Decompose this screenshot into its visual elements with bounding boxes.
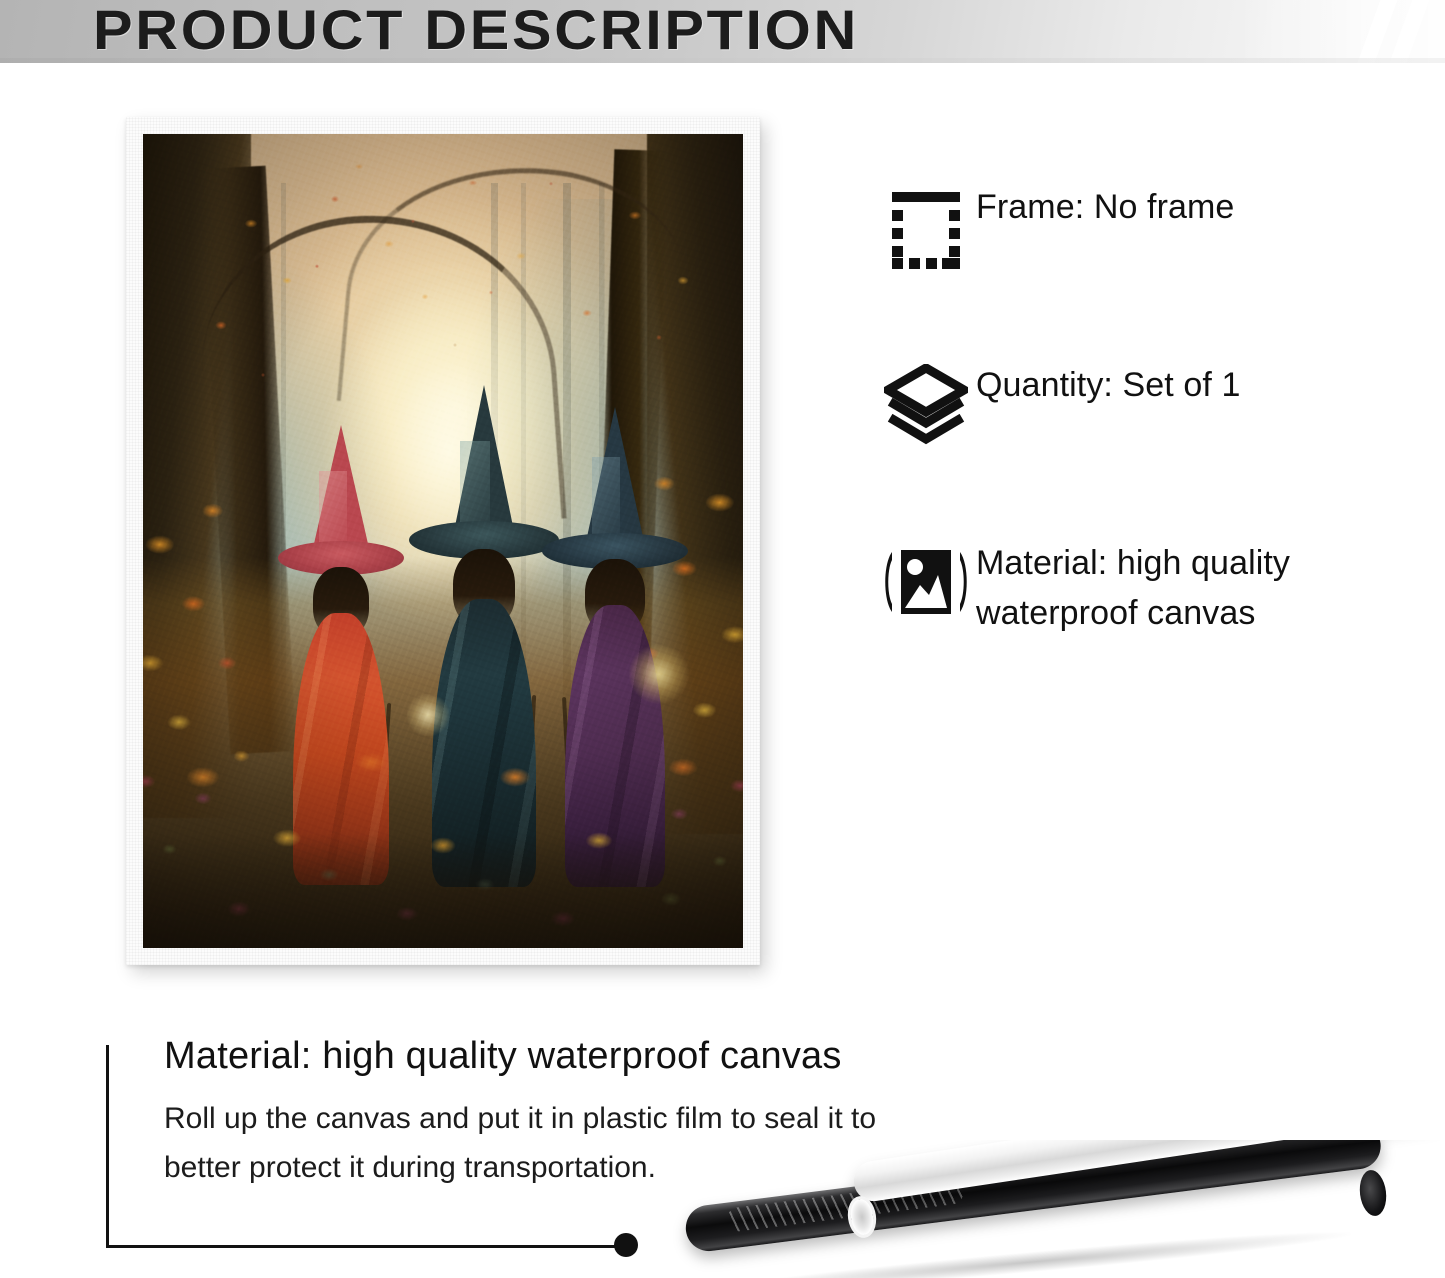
- frame-icon: [876, 180, 976, 270]
- callout-title: Material: high quality waterproof canvas: [164, 1035, 842, 1078]
- callout-end-dot: [614, 1233, 638, 1257]
- spec-label-quantity: Quantity: Set of 1: [976, 358, 1241, 410]
- painting-glow-spark-center: [407, 694, 449, 736]
- black-tube-end-cap: [1357, 1169, 1388, 1218]
- painting-witch-hat-cone: [311, 425, 371, 557]
- page-header-banner: PRODUCT DESCRIPTION: [0, 0, 1445, 63]
- painting-witch-hat-cone: [584, 407, 646, 551]
- product-spec-list: Frame: No frame Quantity: Set of 1 Mater…: [876, 180, 1396, 727]
- painting-foreground-shadow: [143, 834, 743, 948]
- spec-row-frame: Frame: No frame: [876, 180, 1396, 270]
- spec-row-quantity: Quantity: Set of 1: [876, 358, 1396, 448]
- spec-label-material: Material: high quality waterproof canvas: [976, 536, 1396, 639]
- layers-icon: [876, 358, 976, 448]
- image-icon: [876, 536, 976, 622]
- artwork-frame: [126, 117, 760, 965]
- painting-glow-spark-right: [629, 644, 689, 704]
- page-title: PRODUCT DESCRIPTION: [93, 0, 859, 61]
- rolled-canvas-photo: [672, 1140, 1445, 1278]
- painting-witch-hat-cone: [452, 385, 516, 541]
- artwork-canvas-image: [143, 134, 743, 948]
- spec-label-frame: Frame: No frame: [976, 180, 1234, 232]
- spec-row-material: Material: high quality waterproof canvas: [876, 536, 1396, 639]
